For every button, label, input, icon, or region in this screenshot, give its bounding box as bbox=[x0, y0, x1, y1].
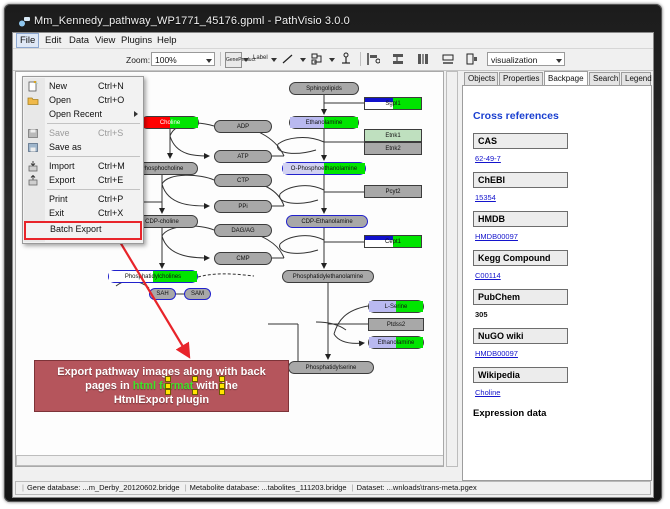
menu-item-accelerator: Ctrl+M bbox=[98, 159, 125, 173]
selection-handle[interactable] bbox=[219, 376, 225, 382]
status-dataset-label: Dataset: bbox=[357, 483, 385, 492]
new-document-icon bbox=[27, 81, 39, 92]
status-bar: |Gene database: ...m_Derby_20120602.brid… bbox=[15, 481, 651, 495]
file-menu-rows: NewCtrl+NOpenCtrl+OOpen RecentSaveCtrl+S… bbox=[23, 79, 143, 220]
node-label: ATP bbox=[237, 154, 248, 160]
menu-item-accelerator: Ctrl+P bbox=[98, 192, 123, 206]
pathway-node-sgpl1[interactable]: Sgpl1 bbox=[364, 97, 422, 110]
annotation-highlight: html format bbox=[133, 380, 194, 392]
status-gene-db-value: ...m_Derby_20120602.bridge bbox=[82, 483, 179, 492]
selection-handle[interactable] bbox=[219, 383, 225, 389]
import-icon bbox=[27, 161, 39, 172]
interaction-icon[interactable] bbox=[310, 52, 324, 66]
backpage-content: Cross references CAS 62-49-7 ChEBI 15354… bbox=[462, 85, 652, 481]
node-label: Phosphocholine bbox=[141, 166, 184, 172]
datanode-button[interactable]: GeneProduct bbox=[225, 52, 242, 68]
node-label: Etnk1 bbox=[385, 133, 400, 139]
tab-objects[interactable]: Objects bbox=[464, 72, 498, 85]
node-label: CDP-Ethanolamine bbox=[301, 219, 352, 225]
menu-item-label: Save as bbox=[49, 140, 82, 154]
pathway-node-ptdserine[interactable]: Phosphatidylserine bbox=[288, 361, 374, 374]
menu-item-accelerator: Ctrl+E bbox=[98, 173, 123, 187]
node-label: Phosphatidylethanolamine bbox=[293, 274, 363, 280]
pathway-node-ethanolamine2[interactable]: Ethanolamine bbox=[368, 336, 424, 349]
datanode-dropdown-arrow[interactable] bbox=[243, 58, 249, 62]
chevron-down-icon bbox=[556, 59, 562, 63]
xref-value-nugo-wiki[interactable]: HMDB00097 bbox=[475, 349, 518, 358]
line-icon[interactable] bbox=[281, 52, 295, 66]
menu-item-save: SaveCtrl+S bbox=[23, 126, 143, 140]
node-label: Pcyt2 bbox=[385, 189, 400, 195]
pathway-node-ethanolamine[interactable]: Ethanolamine bbox=[289, 116, 359, 129]
tab-properties[interactable]: Properties bbox=[499, 72, 543, 85]
menu-bar: File Edit Data View Plugins Help bbox=[13, 33, 653, 49]
menu-file[interactable]: File bbox=[16, 33, 39, 48]
menu-item-label: Print bbox=[49, 192, 68, 206]
menu-item-label: Open Recent bbox=[49, 107, 102, 121]
menu-item-label: Export bbox=[49, 173, 75, 187]
align-left-icon[interactable] bbox=[366, 52, 380, 66]
label-button[interactable]: Label bbox=[253, 55, 268, 61]
annotation-callout: Export pathway images along with back pa… bbox=[34, 360, 289, 412]
zoom-value: 100% bbox=[155, 55, 177, 65]
align-columns-icon[interactable] bbox=[416, 52, 430, 66]
pathway-node-sphingolipids[interactable]: Sphingolipids bbox=[289, 82, 359, 95]
pathway-node-sah[interactable]: SAH bbox=[149, 288, 176, 300]
menu-item-accelerator: Ctrl+X bbox=[98, 206, 123, 220]
node-label: Ptdss2 bbox=[387, 322, 405, 328]
pathway-node-ptdcholines[interactable]: Phosphatidylcholines bbox=[108, 270, 198, 283]
canvas-vertical-scrollbar[interactable] bbox=[446, 71, 458, 467]
pathway-node-atp[interactable]: ATP bbox=[214, 150, 272, 163]
node-label: Sphingolipids bbox=[306, 86, 342, 92]
submenu-arrow-icon bbox=[134, 111, 138, 117]
xref-value-kegg-compound[interactable]: C00114 bbox=[475, 271, 501, 280]
node-label: Etnk2 bbox=[385, 146, 400, 152]
cross-references-title: Cross references bbox=[473, 110, 559, 122]
toolbar: Zoom: 100% GeneProduct Label bbox=[13, 49, 653, 71]
open-folder-icon bbox=[27, 95, 39, 106]
title-bar: Mm_Kennedy_pathway_WP1771_45176.gpml - P… bbox=[12, 10, 652, 32]
menu-item-batch-export-label: Batch Export bbox=[50, 223, 102, 236]
tab-backpage[interactable]: Backpage bbox=[544, 71, 588, 85]
pathway-node-ppi[interactable]: PPi bbox=[214, 200, 272, 213]
visualization-combobox[interactable]: visualization bbox=[487, 52, 565, 66]
client-area: File Edit Data View Plugins Help Zoom: 1… bbox=[12, 32, 654, 498]
menu-item-import[interactable]: ImportCtrl+M bbox=[23, 159, 143, 173]
menu-item-label: Import bbox=[49, 159, 75, 173]
node-label: Phosphatidylcholines bbox=[125, 274, 181, 280]
xref-value-cas[interactable]: 62-49-7 bbox=[475, 154, 501, 163]
visualization-value: visualization bbox=[491, 55, 537, 65]
window-title: Mm_Kennedy_pathway_WP1771_45176.gpml - P… bbox=[34, 15, 350, 27]
selection-handle[interactable] bbox=[165, 389, 171, 395]
menu-item-label: Exit bbox=[49, 206, 64, 220]
xref-value-chebi[interactable]: 15354 bbox=[475, 193, 496, 202]
node-label: Ethanolamine bbox=[306, 120, 343, 126]
menu-item-print[interactable]: PrintCtrl+P bbox=[23, 192, 143, 206]
selection-handle[interactable] bbox=[165, 376, 171, 382]
xref-value-wikipedia[interactable]: Choline bbox=[475, 388, 500, 397]
chevron-down-icon bbox=[206, 59, 212, 63]
tab-legend[interactable]: Legend bbox=[621, 72, 651, 85]
menu-item-save-as[interactable]: Save as bbox=[23, 140, 143, 154]
menu-data[interactable]: Data bbox=[65, 34, 93, 47]
menu-view[interactable]: View bbox=[91, 34, 119, 47]
pathway-node-o-phosphoethanolamine[interactable]: O-Phosphoethanolamine bbox=[282, 162, 366, 175]
pathway-node-etnk2[interactable]: Etnk2 bbox=[364, 142, 422, 155]
interaction-dropdown-arrow[interactable] bbox=[329, 58, 335, 62]
node-label: PPi bbox=[238, 204, 247, 210]
selection-handle[interactable] bbox=[165, 383, 171, 389]
menu-item-exit[interactable]: ExitCtrl+X bbox=[23, 206, 143, 220]
menu-item-new[interactable]: NewCtrl+N bbox=[23, 79, 143, 93]
label-dropdown-arrow[interactable] bbox=[271, 58, 277, 62]
xref-header-kegg-compound: Kegg Compound bbox=[473, 250, 568, 266]
side-panel: Objects Properties Backpage Search Legen… bbox=[462, 71, 652, 481]
xref-header-wikipedia: Wikipedia bbox=[473, 367, 568, 383]
status-gene-db-label: Gene database: bbox=[27, 483, 80, 492]
pathway-node-dag-ag[interactable]: DAG/AG bbox=[214, 224, 272, 237]
pathway-node-pcyt2[interactable]: Pcyt2 bbox=[364, 185, 422, 198]
selection-handle[interactable] bbox=[192, 389, 198, 395]
pathvisio-app-icon bbox=[18, 15, 31, 28]
menu-item-accelerator: Ctrl+O bbox=[98, 93, 124, 107]
file-menu-popup[interactable]: NewCtrl+NOpenCtrl+OOpen RecentSaveCtrl+S… bbox=[22, 76, 144, 244]
annotation-line3: HtmlExport plugin bbox=[114, 394, 209, 406]
screenshot-root: Mm_Kennedy_pathway_WP1771_45176.gpml - P… bbox=[0, 0, 670, 509]
zoom-combobox[interactable]: 100% bbox=[151, 52, 215, 66]
pathway-node-choline-top[interactable]: Choline bbox=[141, 116, 199, 129]
menu-item-batch-export[interactable]: Batch Export bbox=[24, 221, 142, 240]
node-label: DAG/AG bbox=[231, 228, 254, 234]
menu-item-label: Save bbox=[49, 126, 70, 140]
pathway-node-etnk1[interactable]: Etnk1 bbox=[364, 129, 422, 142]
pathway-node-cept1[interactable]: Cept1 bbox=[364, 235, 422, 248]
pathway-node-sam[interactable]: SAM bbox=[184, 288, 211, 300]
save-disk-icon bbox=[27, 128, 39, 139]
xref-header-chebi: ChEBI bbox=[473, 172, 568, 188]
annotation-line2-pre: pages in bbox=[85, 380, 133, 392]
status-metabolite-db-label: Metabolite database: bbox=[190, 483, 260, 492]
menu-item-open-recent[interactable]: Open Recent bbox=[23, 107, 143, 121]
anchor-icon[interactable] bbox=[339, 52, 353, 66]
menu-item-label: New bbox=[49, 79, 67, 93]
menu-help[interactable]: Help bbox=[153, 34, 181, 47]
menu-item-label: Open bbox=[49, 93, 71, 107]
canvas-horizontal-scrollbar[interactable] bbox=[16, 455, 444, 466]
node-label: CMP bbox=[236, 256, 249, 262]
pathway-node-ptdss2[interactable]: Ptdss2 bbox=[368, 318, 424, 331]
node-label: SAH bbox=[156, 291, 168, 297]
xref-header-hmdb: HMDB bbox=[473, 211, 568, 227]
status-dataset-value: ...wnloads\trans-meta.pgex bbox=[387, 483, 477, 492]
node-label: SAM bbox=[191, 291, 204, 297]
node-label: Phosphatidylserine bbox=[306, 365, 357, 371]
expression-data-title: Expression data bbox=[473, 408, 546, 419]
application-window: Mm_Kennedy_pathway_WP1771_45176.gpml - P… bbox=[4, 4, 662, 502]
selection-handle[interactable] bbox=[192, 376, 198, 382]
node-label: Choline bbox=[160, 120, 180, 126]
node-label: ADP bbox=[237, 124, 249, 130]
menu-plugins[interactable]: Plugins bbox=[117, 34, 156, 47]
menu-item-open[interactable]: OpenCtrl+O bbox=[23, 93, 143, 107]
xref-header-pubchem: PubChem bbox=[473, 289, 568, 305]
node-label: CDP-choline bbox=[145, 219, 179, 225]
node-label: CTP bbox=[237, 178, 249, 184]
node-label: Ethanolamine bbox=[378, 340, 415, 346]
menu-edit[interactable]: Edit bbox=[41, 34, 65, 47]
node-label: O-Phosphoethanolamine bbox=[291, 166, 357, 172]
tab-search[interactable]: Search bbox=[589, 72, 620, 85]
pathway-node-cmp[interactable]: CMP bbox=[214, 252, 272, 265]
status-metabolite-db-value: ...tabolites_111203.bridge bbox=[261, 483, 346, 492]
side-panel-tabs: Objects Properties Backpage Search Legen… bbox=[462, 71, 652, 85]
xref-header-nugo-wiki: NuGO wiki bbox=[473, 328, 568, 344]
pathway-node-l-serine[interactable]: L-Serine bbox=[368, 300, 424, 313]
pathway-node-ctp[interactable]: CTP bbox=[214, 174, 272, 187]
pathway-node-adp[interactable]: ADP bbox=[214, 120, 272, 133]
annotation-line2-post: with the bbox=[193, 380, 238, 392]
xref-header-cas: CAS bbox=[473, 133, 568, 149]
menu-item-accelerator: Ctrl+N bbox=[98, 79, 124, 93]
datanode-glyph: GeneProduct bbox=[226, 53, 241, 67]
line-dropdown-arrow[interactable] bbox=[300, 58, 306, 62]
menu-item-accelerator: Ctrl+S bbox=[98, 126, 123, 140]
save-as-icon bbox=[27, 142, 39, 153]
xref-value-pubchem: 305 bbox=[475, 310, 488, 319]
node-label: Cept1 bbox=[385, 239, 401, 245]
menu-item-export[interactable]: ExportCtrl+E bbox=[23, 173, 143, 187]
bring-front-icon[interactable] bbox=[465, 52, 479, 66]
zoom-label: Zoom: bbox=[126, 55, 150, 65]
selection-handle[interactable] bbox=[219, 389, 225, 395]
annotation-line1: Export pathway images along with back bbox=[57, 366, 265, 378]
node-label: L-Serine bbox=[385, 304, 408, 310]
export-icon bbox=[27, 175, 39, 186]
align-stack-icon[interactable] bbox=[391, 52, 405, 66]
pathway-node-ptdethanolamine[interactable]: Phosphatidylethanolamine bbox=[282, 270, 374, 283]
pathway-node-cdp-ethanolamine[interactable]: CDP-Ethanolamine bbox=[286, 215, 368, 228]
node-label: Sgpl1 bbox=[385, 101, 400, 107]
size-common-icon[interactable] bbox=[441, 52, 455, 66]
xref-value-hmdb[interactable]: HMDB00097 bbox=[475, 232, 518, 241]
